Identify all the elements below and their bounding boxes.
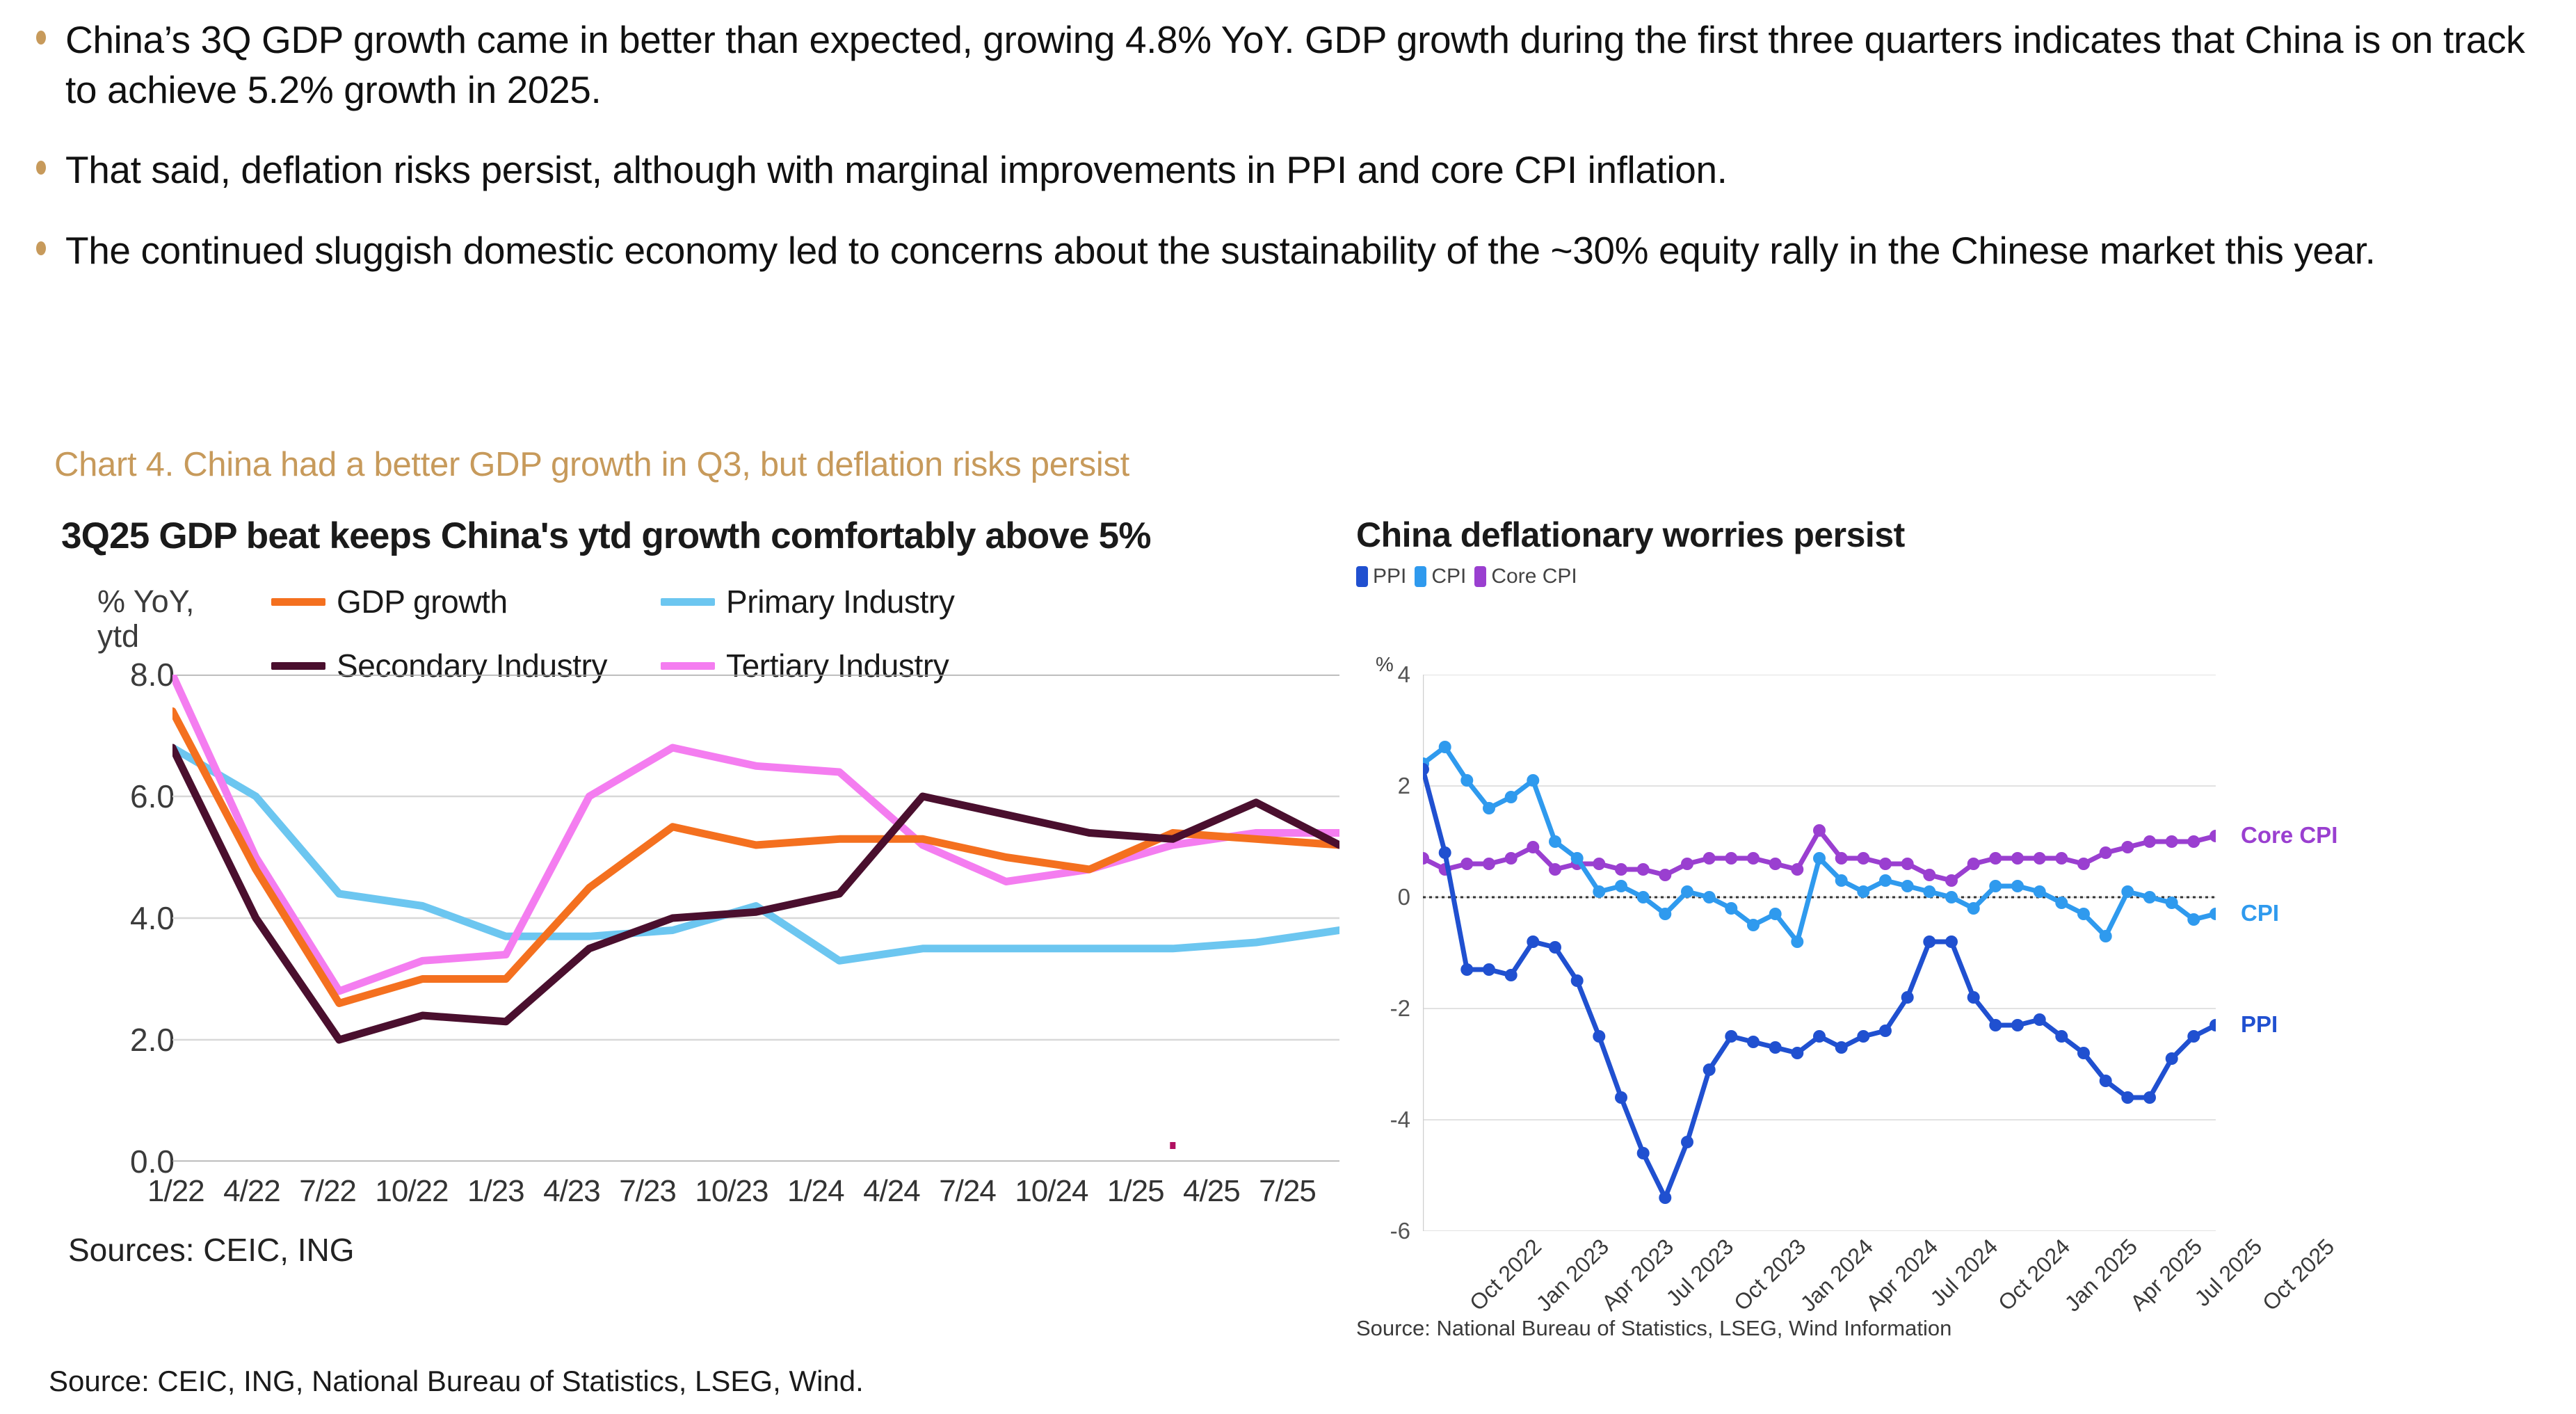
left-xtick-label: 7/25 bbox=[1259, 1174, 1316, 1209]
right-xtick-label: Oct 2023 bbox=[1729, 1234, 1811, 1316]
left-ytick-label: 8.0 bbox=[77, 656, 175, 693]
legend-label: GDP growth bbox=[337, 583, 508, 620]
right-xtick-label: Oct 2024 bbox=[1993, 1234, 2075, 1316]
left-xtick-label: 1/22 bbox=[147, 1174, 204, 1209]
legend-swatch-icon bbox=[271, 598, 325, 606]
legend-item-gdp-growth: GDP growth bbox=[271, 583, 661, 620]
right-ytick-label: -4 bbox=[1356, 1107, 1410, 1133]
legend-item-core-cpi: Core CPI bbox=[1474, 565, 1577, 588]
left-axis-unit: % YoY, ytd bbox=[97, 584, 194, 654]
series-end-label-core-cpi: Core CPI bbox=[2241, 822, 2337, 849]
right-xtick-label: Apr 2023 bbox=[1597, 1234, 1679, 1316]
right-chart-panel: China deflationary worries persist PPI C… bbox=[1356, 515, 2538, 1349]
right-xtick-label: Oct 2025 bbox=[2257, 1234, 2340, 1316]
list-item: The continued sluggish domestic economy … bbox=[28, 226, 2548, 276]
legend-item-ppi: PPI bbox=[1356, 565, 1406, 588]
left-xtick-label: 4/25 bbox=[1183, 1174, 1240, 1209]
legend-swatch-icon bbox=[661, 598, 715, 606]
legend-swatch-icon bbox=[1415, 566, 1426, 587]
legend-swatch-icon bbox=[1474, 566, 1486, 587]
right-xtick-label: Apr 2025 bbox=[2125, 1234, 2207, 1316]
right-xtick-label: Jan 2025 bbox=[2060, 1234, 2143, 1317]
bullet-list: China’s 3Q GDP growth came in better tha… bbox=[0, 0, 2576, 306]
left-ytick-label: 6.0 bbox=[77, 778, 175, 815]
left-chart-source: Sources: CEIC, ING bbox=[68, 1231, 355, 1269]
bullet-marker-icon bbox=[36, 31, 46, 45]
right-chart-legend: PPI CPI Core CPI bbox=[1356, 565, 2538, 588]
right-plot-area: 4 2 0 -2 -4 -6 Core CPI CPI PPI bbox=[1356, 675, 2441, 1231]
series-end-label-cpi: CPI bbox=[2241, 900, 2279, 926]
right-ytick-label: -6 bbox=[1356, 1218, 1410, 1244]
legend-label: CPI bbox=[1431, 565, 1466, 588]
bullet-text: That said, deflation risks persist, alth… bbox=[65, 145, 1728, 195]
left-xtick-label: 1/25 bbox=[1107, 1174, 1164, 1209]
legend-label: Core CPI bbox=[1491, 565, 1577, 588]
bullet-marker-icon bbox=[36, 161, 46, 175]
left-xtick-label: 7/24 bbox=[939, 1174, 996, 1209]
right-ytick-label: -2 bbox=[1356, 995, 1410, 1022]
left-xtick-label: 4/22 bbox=[223, 1174, 280, 1209]
left-xtick-label: 10/24 bbox=[1015, 1174, 1088, 1209]
right-ytick-label: 0 bbox=[1356, 884, 1410, 910]
chart-caption: Chart 4. China had a better GDP growth i… bbox=[54, 445, 1129, 484]
list-item: That said, deflation risks persist, alth… bbox=[28, 145, 2548, 195]
legend-label: PPI bbox=[1373, 565, 1406, 588]
legend-label: Primary Industry bbox=[726, 583, 954, 620]
right-ytick-label: 2 bbox=[1356, 773, 1410, 799]
left-axis-unit-line1: % YoY, bbox=[97, 584, 194, 619]
left-xtick-label: 7/23 bbox=[619, 1174, 676, 1209]
series-end-label-ppi: PPI bbox=[2241, 1011, 2278, 1038]
left-xaxis-labels: 1/224/227/2210/221/234/237/2310/231/244/… bbox=[147, 1174, 1316, 1209]
bullet-marker-icon bbox=[36, 241, 46, 255]
left-xtick-label: 4/24 bbox=[863, 1174, 920, 1209]
page-source: Source: CEIC, ING, National Bureau of St… bbox=[49, 1365, 864, 1398]
left-xtick-label: 4/23 bbox=[543, 1174, 600, 1209]
bullet-text: The continued sluggish domestic economy … bbox=[65, 226, 2376, 276]
right-chart-title: China deflationary worries persist bbox=[1356, 515, 2538, 555]
left-chart-title: 3Q25 GDP beat keeps China's ytd growth c… bbox=[61, 515, 1342, 557]
left-xtick-label: 10/23 bbox=[695, 1174, 768, 1209]
right-chart-svg bbox=[1423, 675, 2216, 1231]
left-xtick-label: 10/22 bbox=[375, 1174, 448, 1209]
legend-item-cpi: CPI bbox=[1415, 565, 1466, 588]
left-ytick-label: 4.0 bbox=[77, 899, 175, 937]
left-chart-svg bbox=[172, 675, 1339, 1162]
left-chart-panel: 3Q25 GDP beat keeps China's ytd growth c… bbox=[42, 515, 1342, 1335]
left-chart-legend: GDP growth Primary Industry Secondary In… bbox=[271, 583, 1175, 684]
legend-swatch-icon bbox=[1356, 566, 1368, 587]
right-ytick-label: 4 bbox=[1356, 661, 1410, 688]
right-xtick-label: Apr 2024 bbox=[1861, 1234, 1943, 1316]
right-chart-source: Source: National Bureau of Statistics, L… bbox=[1356, 1316, 1951, 1341]
left-xtick-label: 7/22 bbox=[299, 1174, 356, 1209]
right-xtick-label: Jan 2024 bbox=[1796, 1234, 1878, 1317]
legend-item-primary-industry: Primary Industry bbox=[661, 583, 1050, 620]
left-axis-unit-line2: ytd bbox=[97, 619, 194, 654]
left-ytick-label: 2.0 bbox=[77, 1021, 175, 1059]
right-xtick-label: Jan 2023 bbox=[1531, 1234, 1614, 1317]
list-item: China’s 3Q GDP growth came in better tha… bbox=[28, 15, 2548, 115]
right-xtick-label: Oct 2022 bbox=[1465, 1234, 1547, 1316]
left-plot-area: 8.0 6.0 4.0 2.0 0.0 bbox=[67, 675, 1339, 1162]
bullet-text: China’s 3Q GDP growth came in better tha… bbox=[65, 15, 2541, 115]
left-xtick-label: 1/24 bbox=[787, 1174, 844, 1209]
legend-swatch-icon bbox=[661, 662, 715, 670]
right-xaxis-labels: Oct 2022Jan 2023Apr 2023Jul 2023Oct 2023… bbox=[1423, 1230, 2230, 1362]
legend-swatch-icon bbox=[271, 662, 325, 670]
left-xtick-label: 1/23 bbox=[467, 1174, 524, 1209]
